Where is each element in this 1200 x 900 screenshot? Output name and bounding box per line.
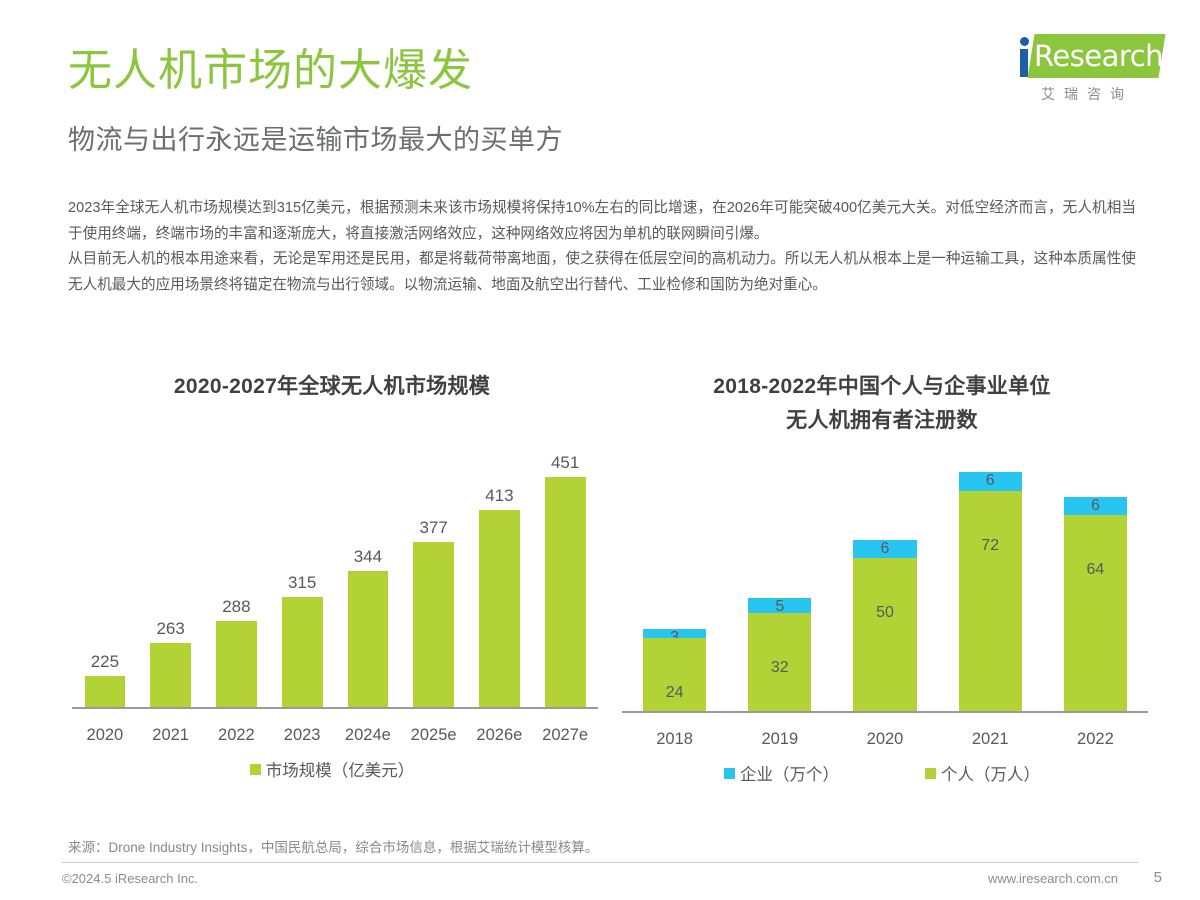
- charts-area: 2020-2027年全球无人机市场规模 22526328831534437741…: [0, 370, 1200, 830]
- bar-segment-enterprise: 6: [853, 540, 916, 558]
- x-axis-label: 2018: [622, 730, 727, 749]
- bar-segment-individual: 24: [643, 638, 706, 712]
- segment-value-label-individual: 32: [748, 659, 811, 677]
- bar-column: 672: [938, 442, 1043, 711]
- logo-mark: Research: [984, 30, 1162, 78]
- segment-value-label-individual: 24: [643, 684, 706, 702]
- chart-left-bars: 225263288315344377413451: [72, 408, 598, 707]
- chart-left-title: 2020-2027年全球无人机市场规模: [62, 370, 602, 404]
- segment-value-label-enterprise: 6: [853, 540, 916, 558]
- bar-segment-market-size: [479, 510, 520, 707]
- bar-segment-enterprise: 3: [643, 629, 706, 638]
- source-note: 来源：Drone Industry Insights，中国民航总局，综合市场信息…: [68, 836, 598, 856]
- chart-right-title: 2018-2022年中国个人与企事业单位 无人机拥有者注册数: [612, 370, 1152, 438]
- body-paragraph-1: 2023年全球无人机市场规模达到315亿美元，根据预测未来该市场规模将保持10%…: [68, 196, 1136, 247]
- x-axis-label: 2022: [204, 726, 270, 745]
- chart-left-xaxis-labels: 20202021202220232024e2025e2026e2027e: [72, 726, 598, 745]
- copyright-text: ©2024.5 iResearch Inc.: [62, 871, 198, 886]
- website-link[interactable]: www.iresearch.com.cn: [988, 871, 1118, 886]
- stacked-bar: 672: [959, 472, 1022, 711]
- x-axis-label: 2021: [138, 726, 204, 745]
- x-axis-label: 2026e: [467, 726, 533, 745]
- chart-right-title-line1: 2018-2022年中国个人与企事业单位: [612, 370, 1152, 404]
- bar-segment-individual: 50: [853, 558, 916, 711]
- chart-right-bars: 324532650672664: [622, 442, 1148, 711]
- body-text: 2023年全球无人机市场规模达到315亿美元，根据预测未来该市场规模将保持10%…: [68, 196, 1136, 298]
- chart-left-legend: 市场规模（亿美元）: [62, 757, 602, 781]
- x-axis-label: 2022: [1043, 730, 1148, 749]
- bar-segment-market-size: [216, 621, 257, 708]
- bar-column: 377: [401, 408, 467, 707]
- bar-value-label: 413: [467, 486, 533, 506]
- page-number: 5: [1154, 869, 1162, 886]
- bar-column: 664: [1043, 442, 1148, 711]
- x-axis-label: 2019: [727, 730, 832, 749]
- legend-item[interactable]: 个人（万人）: [925, 761, 1040, 785]
- bar-value-label: 377: [401, 518, 467, 538]
- x-axis-label: 2023: [269, 726, 335, 745]
- bar-column: 315: [269, 408, 335, 707]
- bar-segment-market-size: [85, 676, 126, 707]
- page-subtitle: 物流与出行永远是运输市场最大的买单方: [68, 121, 563, 159]
- segment-value-label-enterprise: 6: [1064, 497, 1127, 515]
- logo-chinese-name: 艾瑞咨询: [1012, 84, 1162, 104]
- chart-right-xaxis-labels: 20182019202020212022: [622, 730, 1148, 749]
- legend-swatch-icon: [925, 768, 936, 779]
- bar-segment-enterprise: 5: [748, 598, 811, 613]
- x-axis-label: 2027e: [532, 726, 598, 745]
- chart-right-plot: 324532650672664 20182019202020212022: [612, 442, 1152, 757]
- bar-segment-enterprise: 6: [1064, 497, 1127, 515]
- bar-value-label: 288: [204, 597, 270, 617]
- bar-column: 532: [727, 442, 832, 711]
- segment-value-label-enterprise: 6: [959, 472, 1022, 490]
- bar-segment-individual: 32: [748, 613, 811, 711]
- bar-value-label: 451: [532, 453, 598, 473]
- bar-column: 413: [467, 408, 533, 707]
- legend-swatch-icon: [724, 768, 735, 779]
- segment-value-label-individual: 50: [853, 604, 916, 622]
- bar-segment-market-size: [413, 542, 454, 707]
- x-axis-label: 2025e: [401, 726, 467, 745]
- chart-right-axis: [622, 711, 1148, 713]
- legend-label: 企业（万个）: [740, 761, 839, 785]
- logo-i-dot-icon: [1020, 37, 1029, 46]
- legend-label: 市场规模（亿美元）: [266, 757, 415, 781]
- bar-segment-individual: 72: [959, 491, 1022, 712]
- bar-value-label: 225: [72, 652, 138, 672]
- bar-value-label: 263: [138, 619, 204, 639]
- chart-global-drone-market-size: 2020-2027年全球无人机市场规模 22526328831534437741…: [62, 370, 602, 830]
- x-axis-label: 2020: [72, 726, 138, 745]
- chart-right-legend: 企业（万个）个人（万人）: [612, 761, 1152, 785]
- legend-item[interactable]: 企业（万个）: [724, 761, 839, 785]
- x-axis-label: 2020: [832, 730, 937, 749]
- segment-value-label-individual: 72: [959, 537, 1022, 555]
- logo-wordmark: Research: [1034, 38, 1162, 74]
- bar-segment-market-size: [282, 597, 323, 707]
- page-title: 无人机市场的大爆发: [68, 42, 473, 100]
- stacked-bar: 664: [1064, 497, 1127, 712]
- footer-divider: [62, 862, 1138, 863]
- bar-segment-individual: 64: [1064, 515, 1127, 711]
- bar-column: 344: [335, 408, 401, 707]
- chart-right-title-line2: 无人机拥有者注册数: [612, 404, 1152, 438]
- legend-label: 个人（万人）: [941, 761, 1040, 785]
- x-axis-label: 2024e: [335, 726, 401, 745]
- legend-item[interactable]: 市场规模（亿美元）: [250, 757, 415, 781]
- bar-segment-market-size: [348, 571, 389, 707]
- bar-column: 288: [204, 408, 270, 707]
- legend-swatch-icon: [250, 764, 261, 775]
- bar-segment-market-size: [545, 477, 586, 708]
- logo-i-stem-icon: [1020, 49, 1028, 77]
- stacked-bar: 532: [748, 598, 811, 711]
- x-axis-label: 2021: [938, 730, 1043, 749]
- bar-column: 225: [72, 408, 138, 707]
- stacked-bar: 650: [853, 540, 916, 712]
- iresearch-logo: Research 艾瑞咨询: [984, 30, 1162, 108]
- bar-segment-enterprise: 6: [959, 472, 1022, 490]
- slide-page: Research 艾瑞咨询 无人机市场的大爆发 物流与出行永远是运输市场最大的买…: [0, 0, 1200, 900]
- bar-value-label: 344: [335, 547, 401, 567]
- bar-value-label: 315: [269, 573, 335, 593]
- bar-column: 451: [532, 408, 598, 707]
- bar-segment-market-size: [150, 643, 191, 708]
- body-paragraph-2: 从目前无人机的根本用途来看，无论是军用还是民用，都是将载荷带离地面，使之获得在低…: [68, 247, 1136, 298]
- chart-china-drone-owner-registrations: 2018-2022年中国个人与企事业单位 无人机拥有者注册数 324532650…: [612, 370, 1152, 830]
- chart-left-axis: [72, 707, 598, 709]
- bar-column: 324: [622, 442, 727, 711]
- bar-column: 263: [138, 408, 204, 707]
- chart-left-plot: 225263288315344377413451 202020212022202…: [62, 408, 602, 753]
- segment-value-label-individual: 64: [1064, 561, 1127, 579]
- stacked-bar: 324: [643, 629, 706, 712]
- bar-column: 650: [832, 442, 937, 711]
